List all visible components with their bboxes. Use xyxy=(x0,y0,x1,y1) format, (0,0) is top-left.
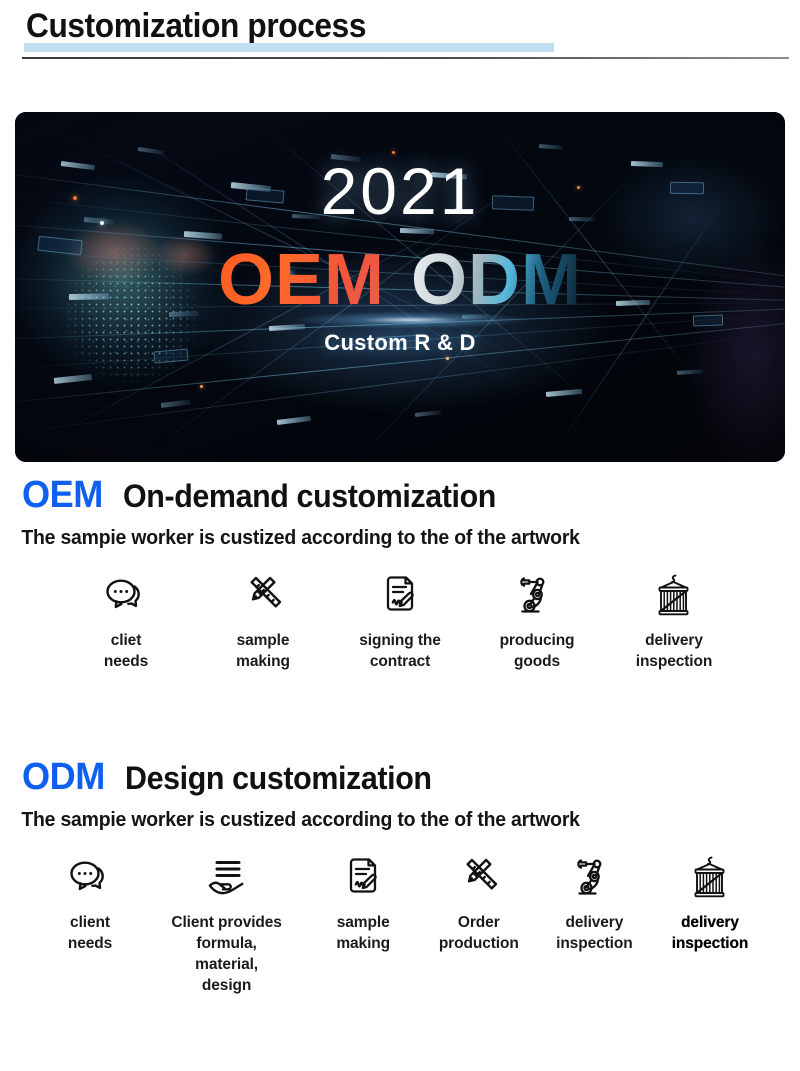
oem-step-label: delivery inspection xyxy=(636,630,713,672)
label-line-1: sample xyxy=(236,630,290,651)
section-oem: OEM On-demand customization The sampie w… xyxy=(0,474,800,672)
title-underline-bar xyxy=(24,43,554,52)
label-line-2: production xyxy=(439,933,519,954)
odm-step-delivery-inspection-robot[interactable]: delivery inspection xyxy=(540,854,648,954)
robot-arm-icon xyxy=(514,572,560,618)
section-odm: ODM Design customization The sampie work… xyxy=(0,756,800,996)
pencil-ruler-icon xyxy=(456,854,502,900)
oem-step-label: producing goods xyxy=(500,630,575,672)
robot-arm-icon xyxy=(571,854,617,900)
customization-process-page: Customization process xyxy=(0,0,800,1071)
hero-brand-odm: ODM xyxy=(411,244,582,316)
label-line-2: contract xyxy=(359,651,441,672)
oem-step-label: cliet needs xyxy=(104,630,148,672)
section-odm-description: The sampie worker is custized according … xyxy=(0,809,776,832)
section-odm-title: Design customization xyxy=(125,760,432,797)
oem-step-sample-making[interactable]: sample making xyxy=(207,572,319,672)
crate-hook-icon xyxy=(687,854,733,900)
label-line-1: sample xyxy=(336,912,390,933)
oem-step-list: cliet needs xyxy=(0,572,800,672)
label-line-1: producing xyxy=(500,630,575,651)
label-line-1: signing the xyxy=(359,630,441,651)
label-line-2: formula, xyxy=(171,933,281,954)
odm-step-label: Client provides formula, material, desig… xyxy=(171,912,281,996)
odm-step-list: client needs Client provides formula, xyxy=(0,854,800,996)
label-line-1: delivery xyxy=(636,630,713,651)
chat-bubbles-icon xyxy=(103,572,149,618)
oem-step-client-needs[interactable]: cliet needs xyxy=(70,572,182,672)
label-line-2: making xyxy=(336,933,390,954)
oem-step-label: signing the contract xyxy=(359,630,441,672)
odm-step-label: client needs xyxy=(68,912,112,954)
odm-step-delivery-inspection-crate[interactable]: delivery inspection xyxy=(656,854,764,954)
oem-step-signing-contract[interactable]: signing the contract xyxy=(344,572,456,672)
hero-text-group: 2021 OEM ODM Custom R & D xyxy=(15,112,785,462)
signed-document-icon xyxy=(340,854,386,900)
label-line-3: material, xyxy=(171,954,281,975)
label-line-1: client xyxy=(68,912,112,933)
label-line-2: needs xyxy=(68,933,112,954)
title-divider-rule xyxy=(22,57,789,59)
label-line-1: Order xyxy=(439,912,519,933)
pencil-ruler-icon xyxy=(240,572,286,618)
section-oem-description: The sampie worker is custized according … xyxy=(0,527,776,550)
odm-step-label: delivery inspection xyxy=(672,912,749,954)
label-line-2: goods xyxy=(500,651,575,672)
label-line-2: inspection xyxy=(672,933,749,954)
label-line-1: Client provides xyxy=(171,912,281,933)
odm-step-label: delivery inspection xyxy=(556,912,633,954)
label-line-2: inspection xyxy=(556,933,633,954)
odm-step-client-provides[interactable]: Client provides formula, material, desig… xyxy=(152,854,302,996)
label-line-1: delivery xyxy=(556,912,633,933)
crate-hook-icon xyxy=(651,572,697,618)
label-line-2: inspection xyxy=(636,651,713,672)
section-oem-tag: OEM xyxy=(22,474,103,517)
chat-bubbles-icon xyxy=(67,854,113,900)
hero-subtitle: Custom R & D xyxy=(324,330,476,356)
odm-step-order-production[interactable]: Order production xyxy=(425,854,533,954)
hero-brand-row: OEM ODM xyxy=(218,244,582,316)
hero-brand-oem: OEM xyxy=(218,244,385,316)
section-odm-tag: ODM xyxy=(22,756,105,799)
hand-documents-icon xyxy=(204,854,250,900)
label-line-1: cliet xyxy=(104,630,148,651)
label-line-1: delivery xyxy=(672,912,749,933)
odm-step-label: sample making xyxy=(336,912,390,954)
odm-step-client-needs[interactable]: client needs xyxy=(36,854,144,954)
oem-step-delivery-inspection[interactable]: delivery inspection xyxy=(618,572,730,672)
label-line-2: making xyxy=(236,651,290,672)
label-line-2: needs xyxy=(104,651,148,672)
label-line-4: design xyxy=(171,975,281,996)
hero-year: 2021 xyxy=(321,156,480,226)
hero-banner: 2021 OEM ODM Custom R & D xyxy=(15,112,785,462)
odm-step-sample-making[interactable]: sample making xyxy=(309,854,417,954)
oem-step-label: sample making xyxy=(236,630,290,672)
signed-document-icon xyxy=(377,572,423,618)
oem-step-producing-goods[interactable]: producing goods xyxy=(481,572,593,672)
section-oem-title: On-demand customization xyxy=(123,478,496,515)
odm-step-label: Order production xyxy=(439,912,519,954)
page-title: Customization process xyxy=(26,6,366,46)
section-odm-heading: ODM Design customization xyxy=(0,756,800,799)
section-oem-heading: OEM On-demand customization xyxy=(0,474,800,517)
